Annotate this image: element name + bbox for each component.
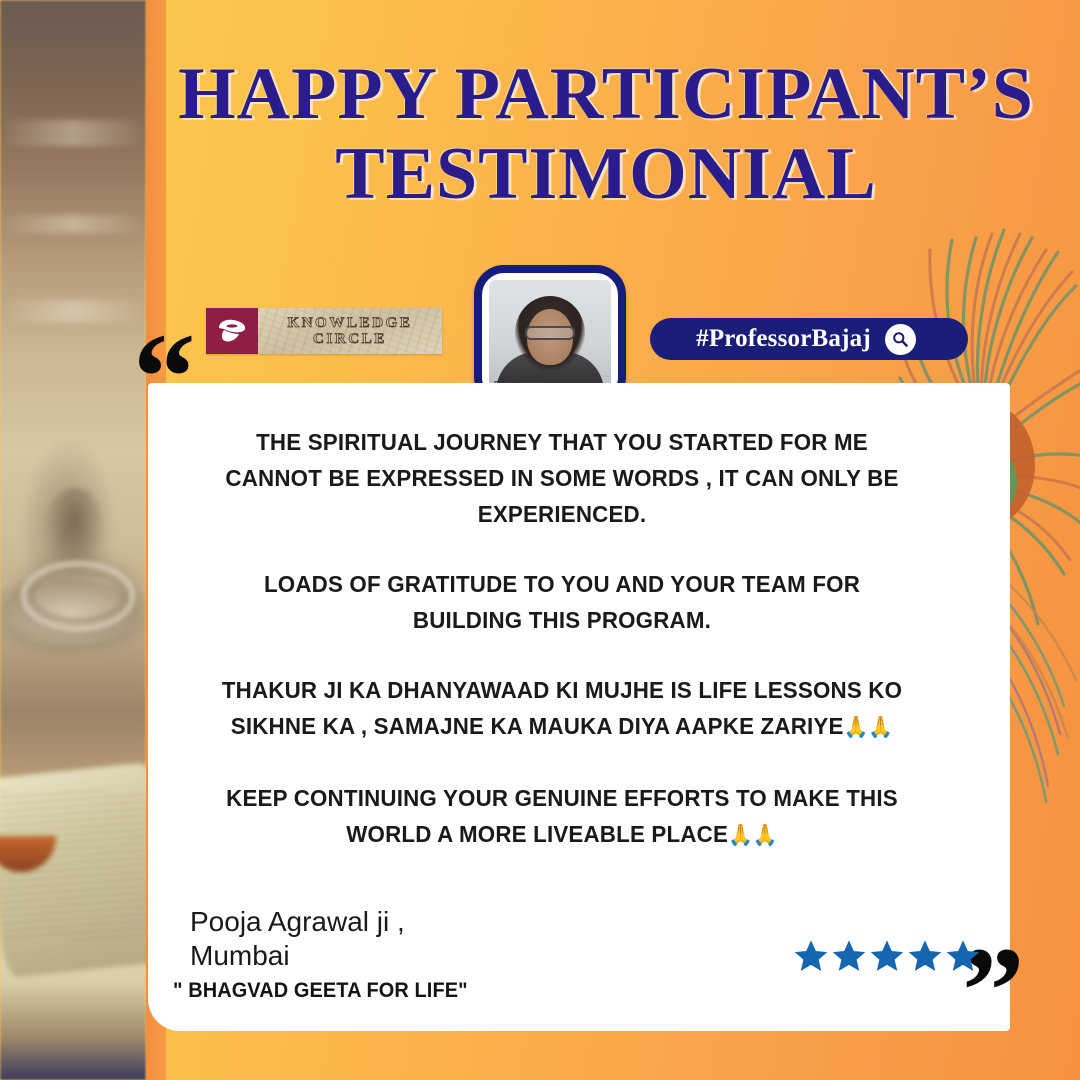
status-badge [793,938,981,974]
quote-open-icon: “ [133,316,192,441]
testimonial-paragraph-text: THAKUR JI KA DHANYAWAAD KI MUJHE IS LIFE… [222,677,902,739]
page-title-line1: HAPPY PARTICIPANT’S [166,55,1046,135]
hashtag-label: #ProfessorBajaj [696,325,871,353]
signature-program: " BHAGVAD GEETA FOR LIFE" [173,979,468,1003]
avatar-glasses-icon [525,326,575,340]
page-title: HAPPY PARTICIPANT’S TESTIMONIAL [166,55,1046,215]
testimonial-paragraph-text: KEEP CONTINUING YOUR GENUINE EFFORTS TO … [226,785,898,847]
hashtag-badge[interactable]: #ProfessorBajaj [650,318,968,360]
knowledge-circle-wordmark: KNOWLEDGE CIRCLE [258,308,442,354]
signature-block: Pooja Agrawal ji , Mumbai " BHAGVAD GEET… [190,905,483,1003]
logo-line2: CIRCLE [313,331,387,347]
star-icon [793,938,829,974]
testimonial-poster: HAPPY PARTICIPANT’S TESTIMONIAL KNOWLEDG… [0,0,1080,1080]
search-icon[interactable] [885,324,916,355]
knowledge-circle-logo: KNOWLEDGE CIRCLE [206,308,442,354]
signature-city: Mumbai [190,939,483,973]
testimonial-paragraph: KEEP CONTINUING YOUR GENUINE EFFORTS TO … [207,780,918,854]
testimonial-paragraph: LOADS OF GRATITUDE TO YOU AND YOUR TEAM … [207,566,918,638]
avatar-photo: Pooja Agrawal [489,280,611,392]
star-icon [869,938,905,974]
devotional-photo-strip [0,0,146,1080]
testimonial-body: THE SPIRITUAL JOURNEY THAT YOU STARTED F… [188,424,936,854]
star-icon [945,938,981,974]
signature-name: Pooja Agrawal ji , [190,905,483,939]
star-icon [831,938,867,974]
folded-hands-emoji: 🙏🙏 [844,716,894,739]
testimonial-paragraph: THAKUR JI KA DHANYAWAAD KI MUJHE IS LIFE… [207,672,918,746]
star-icon [907,938,943,974]
logo-line1: KNOWLEDGE [287,315,412,331]
folded-hands-emoji: 🙏🙏 [728,824,778,847]
knowledge-circle-mark-icon [206,308,258,354]
testimonial-paragraph: THE SPIRITUAL JOURNEY THAT YOU STARTED F… [207,424,918,532]
chakra-disc [20,560,136,632]
page-title-line2: TESTIMONIAL [166,135,1046,215]
